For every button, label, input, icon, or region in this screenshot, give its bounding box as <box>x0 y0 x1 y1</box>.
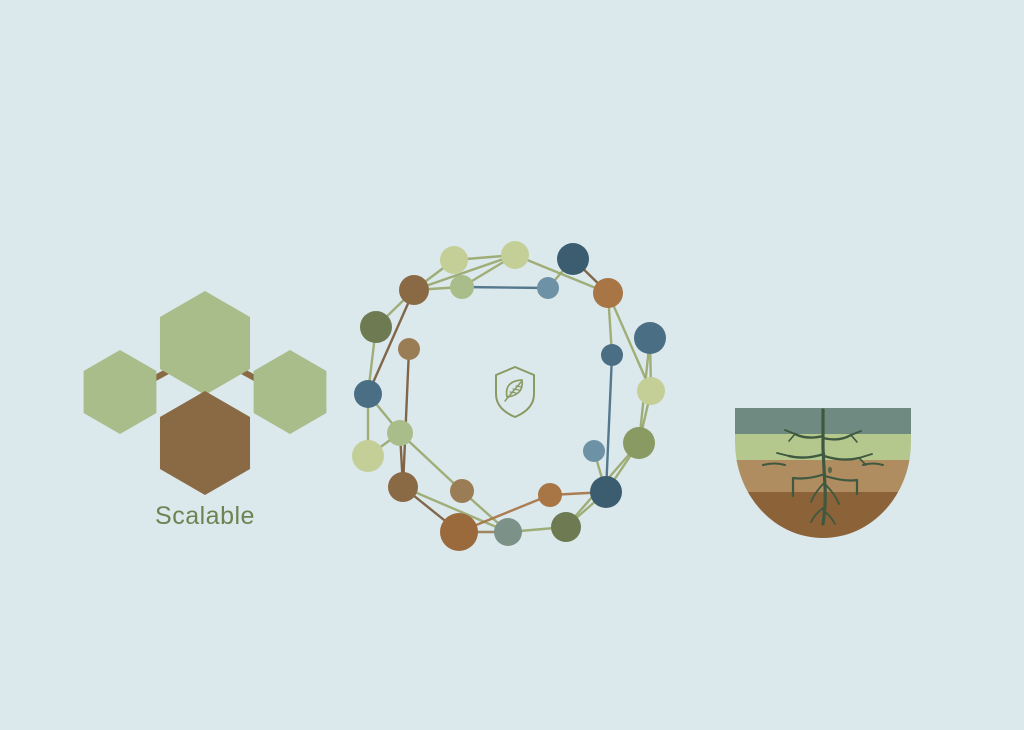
network-node-23 <box>551 512 581 542</box>
network-node-17 <box>388 472 418 502</box>
network-edge-14 <box>606 355 612 492</box>
network-node-5 <box>537 277 559 299</box>
network-node-22 <box>494 518 522 546</box>
network-edge-4 <box>462 287 548 288</box>
network-node-9 <box>634 322 666 354</box>
network-node-16 <box>583 440 605 462</box>
network-node-6 <box>593 278 623 308</box>
network-node-14 <box>387 420 413 446</box>
network-node-15 <box>623 427 655 459</box>
hexagon-shapes <box>84 291 327 495</box>
illustration-canvas: Scalable <box>0 0 1024 730</box>
network-node-8 <box>398 338 420 360</box>
network-edge-11 <box>403 349 409 487</box>
hexagon-top <box>160 291 250 395</box>
network-node-12 <box>637 377 665 405</box>
network-graph-graphic <box>340 225 690 575</box>
hexagon-right <box>254 350 327 434</box>
network-node-13 <box>352 440 384 472</box>
network-graph-panel <box>340 225 690 575</box>
network-node-20 <box>590 476 622 508</box>
soil-cross-section-panel <box>733 408 913 538</box>
hexagon-cluster-panel: Scalable <box>60 270 350 560</box>
hexagon-cluster-graphic <box>60 270 350 500</box>
shield-leaf-icon <box>496 367 534 417</box>
network-node-7 <box>360 311 392 343</box>
network-node-0 <box>440 246 468 274</box>
seed-dot <box>828 467 832 473</box>
network-node-19 <box>538 483 562 507</box>
shield-outline <box>496 367 534 417</box>
network-node-4 <box>450 275 474 299</box>
network-node-10 <box>601 344 623 366</box>
network-node-11 <box>354 380 382 408</box>
hexagon-left <box>84 350 157 434</box>
scalable-label: Scalable <box>60 502 350 531</box>
network-node-2 <box>557 243 589 275</box>
hexagon-bottom <box>160 391 250 495</box>
network-node-18 <box>450 479 474 503</box>
network-node-21 <box>440 513 478 551</box>
network-node-3 <box>399 275 429 305</box>
soil-cross-section-graphic <box>733 408 913 538</box>
network-node-1 <box>501 241 529 269</box>
